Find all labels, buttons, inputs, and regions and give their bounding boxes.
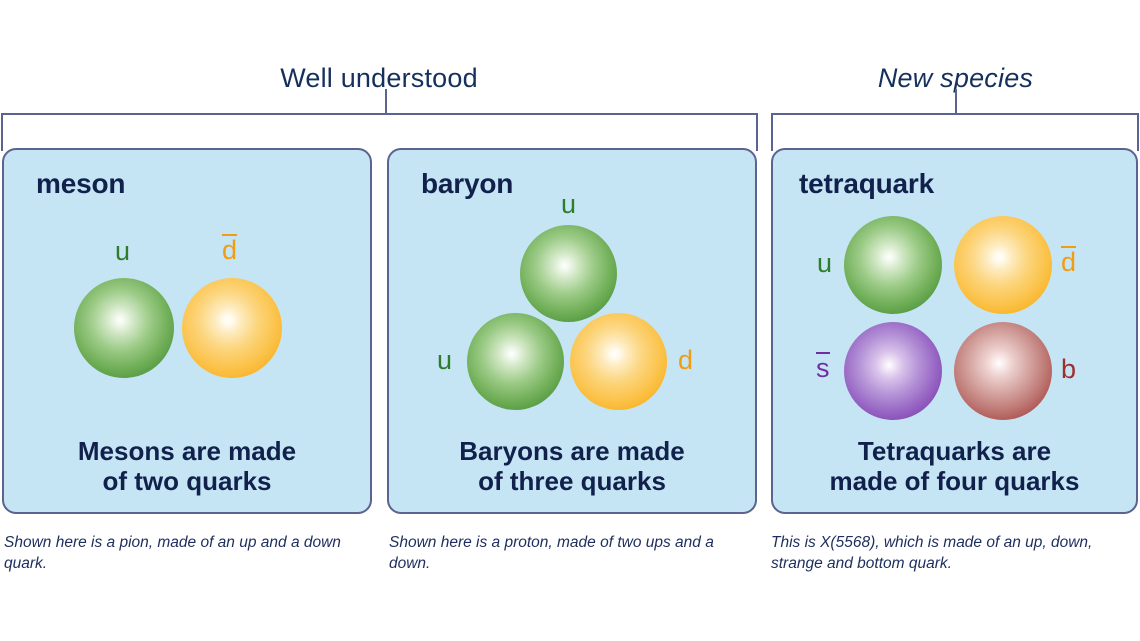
caption-baryon: Shown here is a proton, made of two ups … xyxy=(389,532,751,575)
bracket-well-understood xyxy=(1,113,758,151)
panel-baryon: baryon u u d Baryons are madeof three qu… xyxy=(387,148,757,514)
panel-meson: meson u d Mesons are madeof two quarks xyxy=(2,148,372,514)
group-label-well-understood: Well understood xyxy=(0,63,758,94)
quark-label-bottom: b xyxy=(1061,356,1076,383)
quark-label-antidown: d xyxy=(222,234,237,264)
panel-title-meson: meson xyxy=(36,168,125,200)
quark-sphere-antidown xyxy=(182,278,282,378)
quark-label-up-top: u xyxy=(561,191,576,218)
quark-label-down-right: d xyxy=(678,347,693,374)
overbar-icon xyxy=(222,234,237,236)
quark-label-up: u xyxy=(817,250,832,277)
quark-label-antidown: d xyxy=(1061,246,1076,276)
overbar-icon xyxy=(816,352,830,354)
caption-meson: Shown here is a pion, made of an up and … xyxy=(4,532,364,575)
quark-sphere-bottom xyxy=(954,322,1052,420)
quark-sphere-down-right xyxy=(570,313,667,410)
panel-footer-tetraquark: Tetraquarks aremade of four quarks xyxy=(773,436,1136,496)
quark-sphere-up-left xyxy=(467,313,564,410)
bracket-stem-left xyxy=(385,89,387,114)
quark-sphere-up-top xyxy=(520,225,617,322)
panel-title-baryon: baryon xyxy=(421,168,513,200)
panel-footer-baryon: Baryons are madeof three quarks xyxy=(389,436,755,496)
quark-label-up-left: u xyxy=(437,347,452,374)
panel-title-tetraquark: tetraquark xyxy=(799,168,934,200)
quark-sphere-antidown xyxy=(954,216,1052,314)
quark-label-up: u xyxy=(115,238,130,265)
quark-sphere-up xyxy=(844,216,942,314)
caption-tetraquark: This is X(5568), which is made of an up,… xyxy=(771,532,1121,575)
panel-tetraquark: tetraquark u d s b Tetraquarks aremade o… xyxy=(771,148,1138,514)
quark-sphere-antistrange xyxy=(844,322,942,420)
overbar-icon xyxy=(1061,246,1076,248)
panel-footer-meson: Mesons are madeof two quarks xyxy=(4,436,370,496)
quark-sphere-up xyxy=(74,278,174,378)
bracket-new-species xyxy=(771,113,1139,151)
bracket-stem-right xyxy=(955,89,957,114)
quark-label-antistrange: s xyxy=(816,352,830,382)
